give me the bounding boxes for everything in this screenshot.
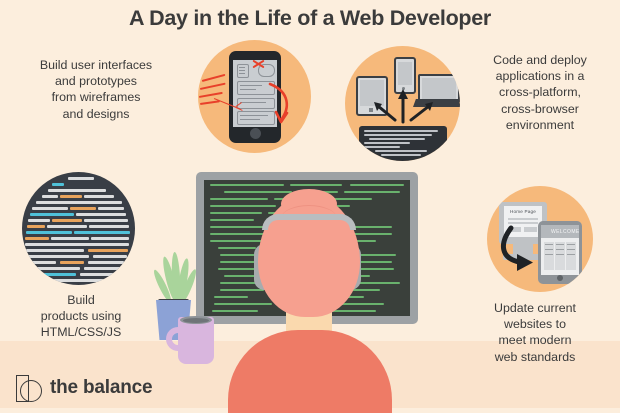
infographic-canvas: A Day in the Life of a Web Developer xyxy=(0,0,620,413)
website-update-illustration: Home Page WELCOME xyxy=(487,186,593,292)
caption-ui-design: Build user interfaces and prototypes fro… xyxy=(8,57,184,122)
brand-logo[interactable]: the balance xyxy=(14,374,152,402)
coffee-mug xyxy=(178,317,214,364)
code-block xyxy=(359,126,447,161)
transition-arrow-icon xyxy=(487,186,593,292)
caption-build-products: Build products using HTML/CSS/JS xyxy=(6,292,156,341)
cross-platform-devices-illustration xyxy=(345,46,460,161)
red-curved-arrow-icon xyxy=(198,40,311,153)
code-circle-content xyxy=(22,172,135,285)
page-title: A Day in the Life of a Web Developer xyxy=(0,6,620,31)
caption-cross-platform: Code and deploy applications in a cross-… xyxy=(462,52,618,133)
caption-update-sites: Update current websites to meet modern w… xyxy=(452,300,618,365)
balance-logo-mark-icon xyxy=(14,374,42,402)
mug-interior xyxy=(183,318,209,323)
phone-wireframe-illustration xyxy=(198,40,311,153)
brand-logo-text: the balance xyxy=(50,377,152,399)
headphone-band xyxy=(262,214,356,230)
